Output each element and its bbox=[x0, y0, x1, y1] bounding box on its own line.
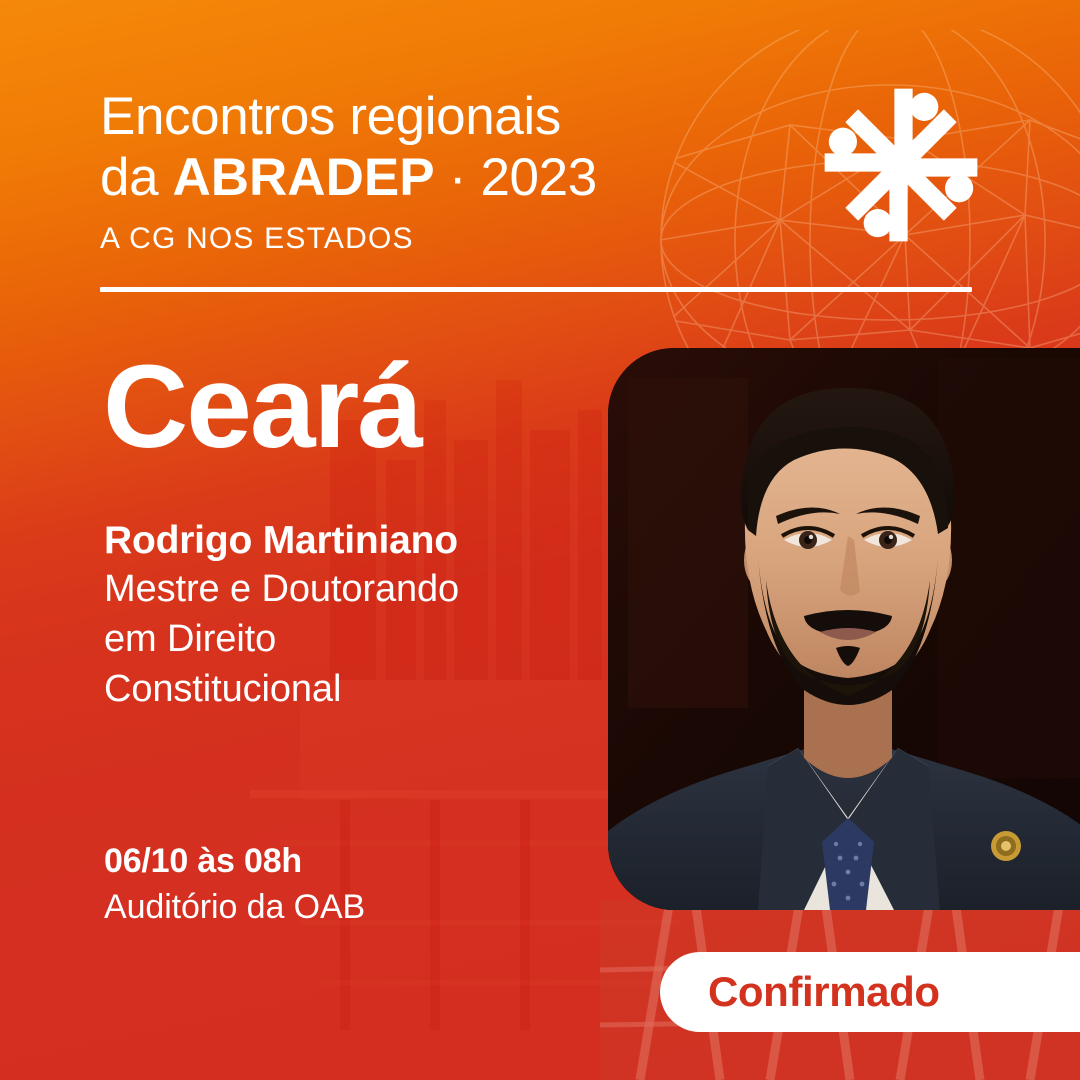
speaker-name: Rodrigo Martiniano bbox=[104, 517, 624, 564]
speaker-role: Mestre e Doutorando em Direito Constituc… bbox=[104, 564, 624, 714]
header-subtitle: A CG NOS ESTADOS bbox=[100, 222, 860, 256]
status-badge[interactable]: Confirmado bbox=[660, 952, 1080, 1032]
state-name: Ceará bbox=[103, 348, 421, 466]
title-line-1: Encontros regionais bbox=[100, 86, 860, 147]
org-name: ABRADEP bbox=[172, 148, 434, 207]
event-poster: Encontros regionais da ABRADEP · 2023 A … bbox=[0, 0, 1080, 1080]
title-suffix: · 2023 bbox=[435, 148, 597, 207]
status-badge-label: Confirmado bbox=[708, 968, 940, 1016]
header-divider bbox=[100, 287, 972, 292]
event-date: 06/10 às 08h bbox=[104, 838, 365, 884]
speaker-role-line-1: Mestre e Doutorando bbox=[104, 564, 624, 614]
event-venue: Auditório da OAB bbox=[104, 884, 365, 930]
header: Encontros regionais da ABRADEP · 2023 A … bbox=[100, 86, 860, 256]
event-info: 06/10 às 08h Auditório da OAB bbox=[104, 838, 365, 930]
speaker-role-line-2: em Direito bbox=[104, 614, 624, 664]
abradep-logo-icon bbox=[818, 82, 984, 248]
speaker-role-line-3: Constitucional bbox=[104, 664, 624, 714]
title-line-2: da ABRADEP · 2023 bbox=[100, 147, 860, 208]
speaker-block: Rodrigo Martiniano Mestre e Doutorando e… bbox=[104, 517, 624, 714]
title-prefix: da bbox=[100, 148, 172, 207]
speaker-photo bbox=[608, 348, 1080, 910]
